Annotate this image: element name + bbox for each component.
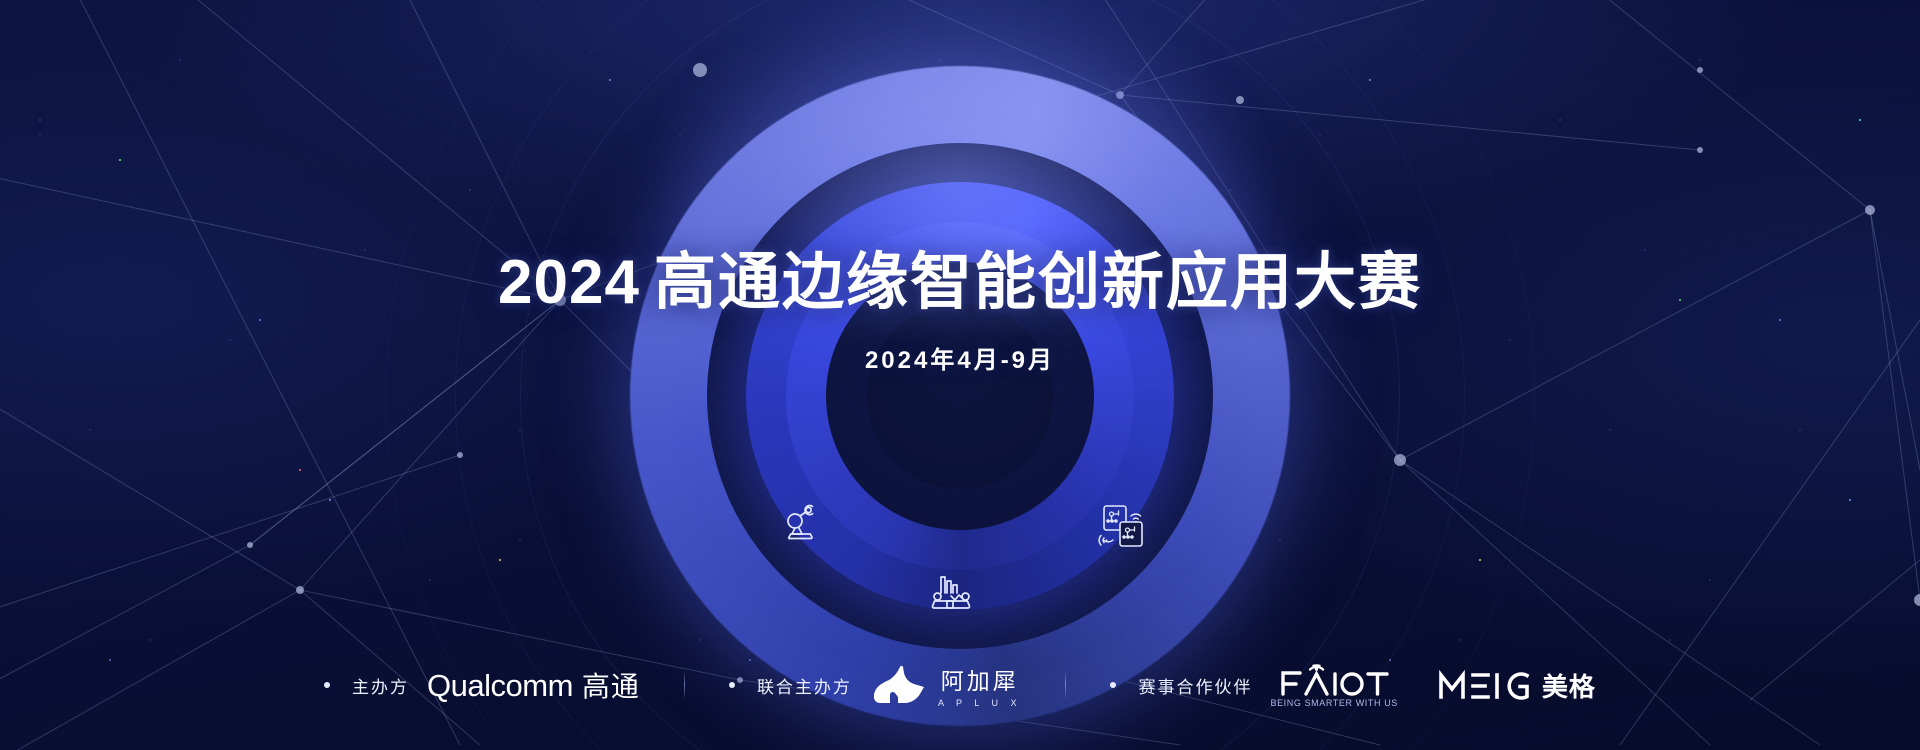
sponsor-group-partners: 赛事合作伙伴 — [1084, 662, 1621, 708]
faiot-logo[interactable]: BEING SMARTER WITH US — [1270, 663, 1397, 708]
meig-logo[interactable]: 美格 — [1438, 667, 1596, 704]
meig-wordmark-icon — [1438, 670, 1532, 700]
title-year: 2024 — [498, 248, 640, 317]
sponsor-label-co-organizer: 联合主办方 — [757, 673, 852, 698]
aplux-en-name: A P L U X — [938, 698, 1022, 708]
event-date-subtitle: 2024年4月-9月 — [865, 340, 1055, 375]
aplux-logo[interactable]: 阿加犀 A P L U X — [870, 662, 1022, 708]
sponsor-group-co-organizer: 联合主办方 阿加犀 A P L U X — [703, 662, 1048, 708]
title-main: 高通边缘智能创新应用大赛 — [654, 248, 1422, 317]
page-title: 2024高通边缘智能创新应用大赛 — [498, 252, 1422, 314]
faiot-wordmark-icon — [1279, 663, 1389, 696]
sponsor-label-organizer: 主办方 — [352, 673, 409, 698]
sponsor-label-partners: 赛事合作伙伴 — [1138, 673, 1252, 698]
sponsor-divider-1 — [684, 670, 685, 700]
bullet-icon — [1110, 682, 1116, 688]
qualcomm-wordmark: Qualcomm — [427, 668, 573, 704]
faiot-tagline: BEING SMARTER WITH US — [1270, 698, 1397, 708]
aplux-cn-name: 阿加犀 — [941, 662, 1019, 696]
aplux-rhino-icon — [870, 664, 928, 706]
bullet-icon — [729, 682, 735, 688]
bullet-icon — [324, 682, 330, 688]
sponsor-bar: 主办方 Qualcomm 高通 联合主办方 阿加犀 A P L U X — [0, 655, 1920, 715]
headline-block: 2024高通边缘智能创新应用大赛 2024年4月-9月 — [0, 0, 1920, 750]
qualcomm-cn-name: 高通 — [582, 665, 640, 705]
qualcomm-logo[interactable]: Qualcomm 高通 — [427, 665, 640, 705]
meig-cn-name: 美格 — [1542, 667, 1596, 704]
event-banner: 2024高通边缘智能创新应用大赛 2024年4月-9月 — [0, 0, 1920, 750]
sponsor-group-organizer: 主办方 Qualcomm 高通 — [298, 662, 666, 708]
sponsor-divider-2 — [1065, 670, 1066, 700]
